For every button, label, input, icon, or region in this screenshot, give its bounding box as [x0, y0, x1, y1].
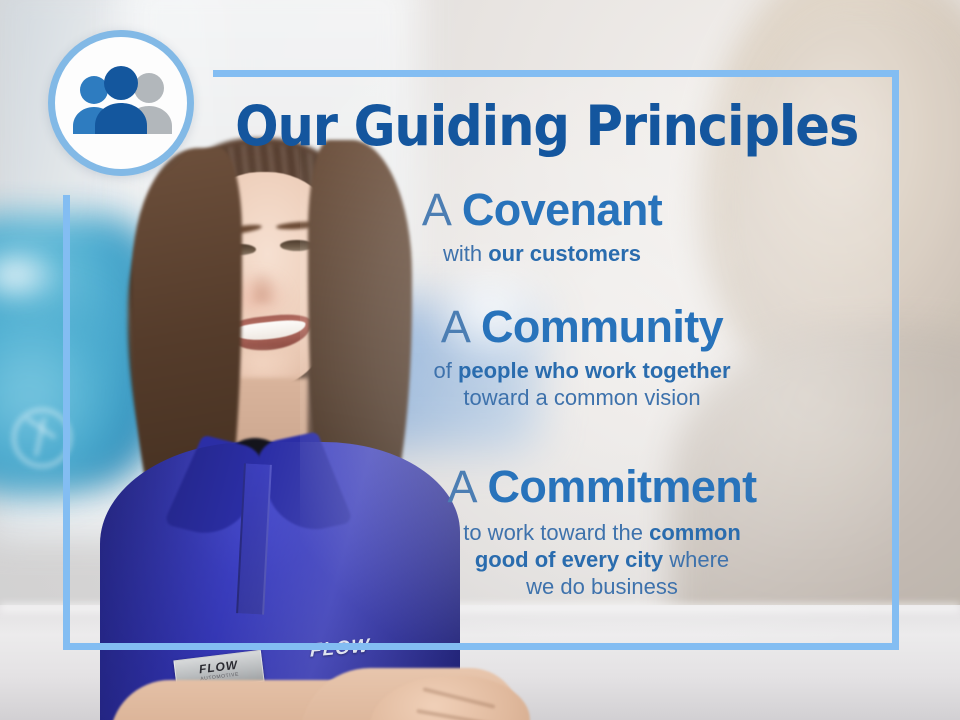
line-plain-before: with — [443, 241, 488, 266]
principle-covenant-line-1: with our customers — [212, 241, 872, 268]
line-plain-before: we do business — [526, 574, 678, 599]
principle-commitment-line-3: we do business — [272, 574, 932, 601]
principle-covenant: A Covenant with our customers — [212, 186, 872, 268]
principle-covenant-headline: A Covenant — [212, 186, 872, 233]
principle-community-article: A — [441, 301, 481, 352]
principle-commitment-body: to work toward the common good of every … — [272, 520, 932, 600]
principle-community: A Community of people who work together … — [252, 303, 912, 412]
principle-commitment-line-1: to work toward the common — [272, 520, 932, 547]
principle-covenant-article: A — [422, 184, 462, 235]
line-plain-before: toward a common vision — [463, 385, 700, 410]
principle-community-body: of people who work together toward a com… — [252, 358, 912, 412]
principle-community-line-2: toward a common vision — [252, 385, 912, 412]
banner-text-content: Our Guiding Principles A Covenant with o… — [0, 0, 960, 720]
principle-community-line-1: of people who work together — [252, 358, 912, 385]
principle-community-word: Community — [481, 301, 723, 352]
line-plain-before: to work toward the — [463, 520, 649, 545]
page-title: Our Guiding Principles — [235, 94, 849, 158]
line-bold: common — [649, 520, 741, 545]
principle-community-headline: A Community — [252, 303, 912, 350]
guiding-principles-banner: FLOW AUTOMOTIVE FLOW — [0, 0, 960, 720]
principle-covenant-word: Covenant — [462, 184, 662, 235]
line-plain-before: of — [433, 358, 457, 383]
line-plain-after: where — [663, 547, 729, 572]
line-bold: good of every city — [475, 547, 663, 572]
principle-commitment-line-2: good of every city where — [272, 547, 932, 574]
principle-commitment: A Commitment to work toward the common g… — [272, 463, 932, 601]
line-bold: people who work together — [458, 358, 731, 383]
principle-covenant-body: with our customers — [212, 241, 872, 268]
principle-commitment-headline: A Commitment — [272, 463, 932, 510]
principle-commitment-article: A — [447, 461, 487, 512]
line-bold: our customers — [488, 241, 641, 266]
principle-commitment-word: Commitment — [488, 461, 757, 512]
